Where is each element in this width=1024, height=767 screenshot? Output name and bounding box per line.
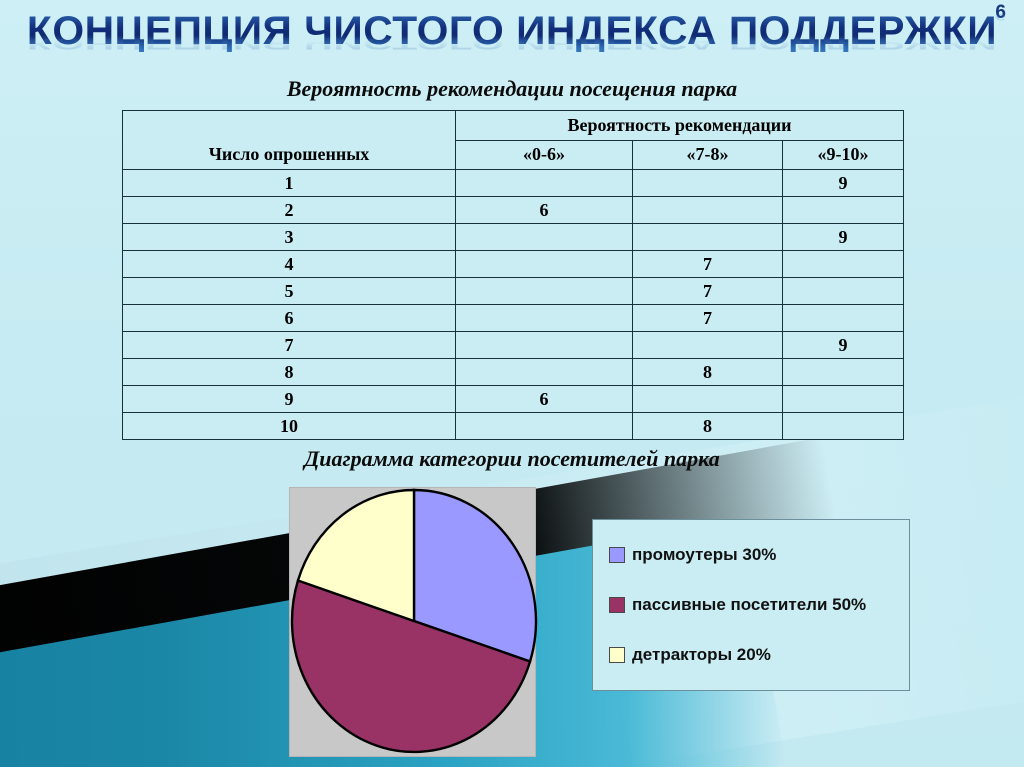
table-cell-0-6: 6 [456, 386, 633, 413]
table-cell-0-6 [456, 224, 633, 251]
table-header-col-7-8: «7-8» [633, 140, 783, 170]
table-cell-7-8: 8 [633, 413, 783, 440]
table-row: 88 [123, 359, 904, 386]
table-cell-9-10: 9 [783, 170, 904, 197]
legend-item: промоутеры 30% [609, 545, 909, 565]
table-cell-9-10: 9 [783, 332, 904, 359]
table-cell-respondents: 2 [123, 197, 456, 224]
table-cell-respondents: 4 [123, 251, 456, 278]
table-cell-9-10 [783, 413, 904, 440]
table-header-col-0-6: «0-6» [456, 140, 633, 170]
legend-swatch-icon [609, 597, 625, 613]
table-cell-respondents: 6 [123, 305, 456, 332]
table-cell-7-8 [633, 386, 783, 413]
legend-item: детракторы 20% [609, 645, 909, 665]
pie-slices [292, 490, 536, 752]
table-cell-respondents: 8 [123, 359, 456, 386]
table-cell-respondents: 10 [123, 413, 456, 440]
table-header-respondents: Число опрошенных [123, 111, 456, 170]
table-row: 79 [123, 332, 904, 359]
table-header-row-group: Число опрошенных Вероятность рекомендаци… [123, 111, 904, 141]
survey-table: Число опрошенных Вероятность рекомендаци… [122, 110, 904, 440]
table-row: 19 [123, 170, 904, 197]
table-cell-0-6: 6 [456, 197, 633, 224]
legend-label: промоутеры 30% [632, 545, 776, 565]
slide-canvas: 6 6 КОНЦЕПЦИЯ ЧИСТОГО ИНДЕКСА ПОДДЕРЖКИ … [0, 0, 1024, 767]
page-title: КОНЦЕПЦИЯ ЧИСТОГО ИНДЕКСА ПОДДЕРЖКИ [0, 6, 1024, 56]
legend-item: пассивные посетители 50% [609, 595, 909, 615]
table-row: 39 [123, 224, 904, 251]
table-cell-9-10: 9 [783, 224, 904, 251]
table-cell-7-8: 7 [633, 278, 783, 305]
table-row: 108 [123, 413, 904, 440]
table-cell-7-8: 8 [633, 359, 783, 386]
table-caption: Вероятность рекомендации посещения парка [0, 76, 1024, 102]
table-cell-respondents: 7 [123, 332, 456, 359]
pie-caption: Диаграмма категории посетителей парка [0, 446, 1024, 472]
title-container: КОНЦЕПЦИЯ ЧИСТОГО ИНДЕКСА ПОДДЕРЖКИ КОНЦ… [0, 6, 1024, 68]
table-row: 26 [123, 197, 904, 224]
table-cell-7-8 [633, 224, 783, 251]
table-row: 96 [123, 386, 904, 413]
table-header-col-9-10: «9-10» [783, 140, 904, 170]
table-cell-9-10 [783, 305, 904, 332]
table-cell-respondents: 3 [123, 224, 456, 251]
table-cell-0-6 [456, 278, 633, 305]
table-cell-9-10 [783, 197, 904, 224]
table-cell-0-6 [456, 413, 633, 440]
table-cell-0-6 [456, 332, 633, 359]
legend-label: детракторы 20% [632, 645, 771, 665]
table-header-probability-group: Вероятность рекомендации [456, 111, 904, 141]
table-cell-0-6 [456, 305, 633, 332]
table-cell-9-10 [783, 251, 904, 278]
table-cell-7-8 [633, 332, 783, 359]
table-cell-7-8: 7 [633, 305, 783, 332]
table-body: 192639475767798896108 [123, 170, 904, 440]
table-cell-9-10 [783, 386, 904, 413]
table-cell-0-6 [456, 170, 633, 197]
table-cell-0-6 [456, 251, 633, 278]
table-cell-respondents: 1 [123, 170, 456, 197]
table-cell-0-6 [456, 359, 633, 386]
table-header: Число опрошенных Вероятность рекомендаци… [123, 111, 904, 170]
legend-label: пассивные посетители 50% [632, 595, 866, 615]
table-cell-7-8 [633, 170, 783, 197]
table-row: 67 [123, 305, 904, 332]
table-cell-respondents: 5 [123, 278, 456, 305]
legend-swatch-icon [609, 647, 625, 663]
table-row: 47 [123, 251, 904, 278]
table-cell-9-10 [783, 359, 904, 386]
table-cell-respondents: 9 [123, 386, 456, 413]
table-cell-7-8 [633, 197, 783, 224]
legend-swatch-icon [609, 547, 625, 563]
table-cell-7-8: 7 [633, 251, 783, 278]
pie-chart [290, 487, 548, 755]
table-cell-9-10 [783, 278, 904, 305]
pie-legend: промоутеры 30%пассивные посетители 50%де… [592, 519, 910, 691]
table-row: 57 [123, 278, 904, 305]
